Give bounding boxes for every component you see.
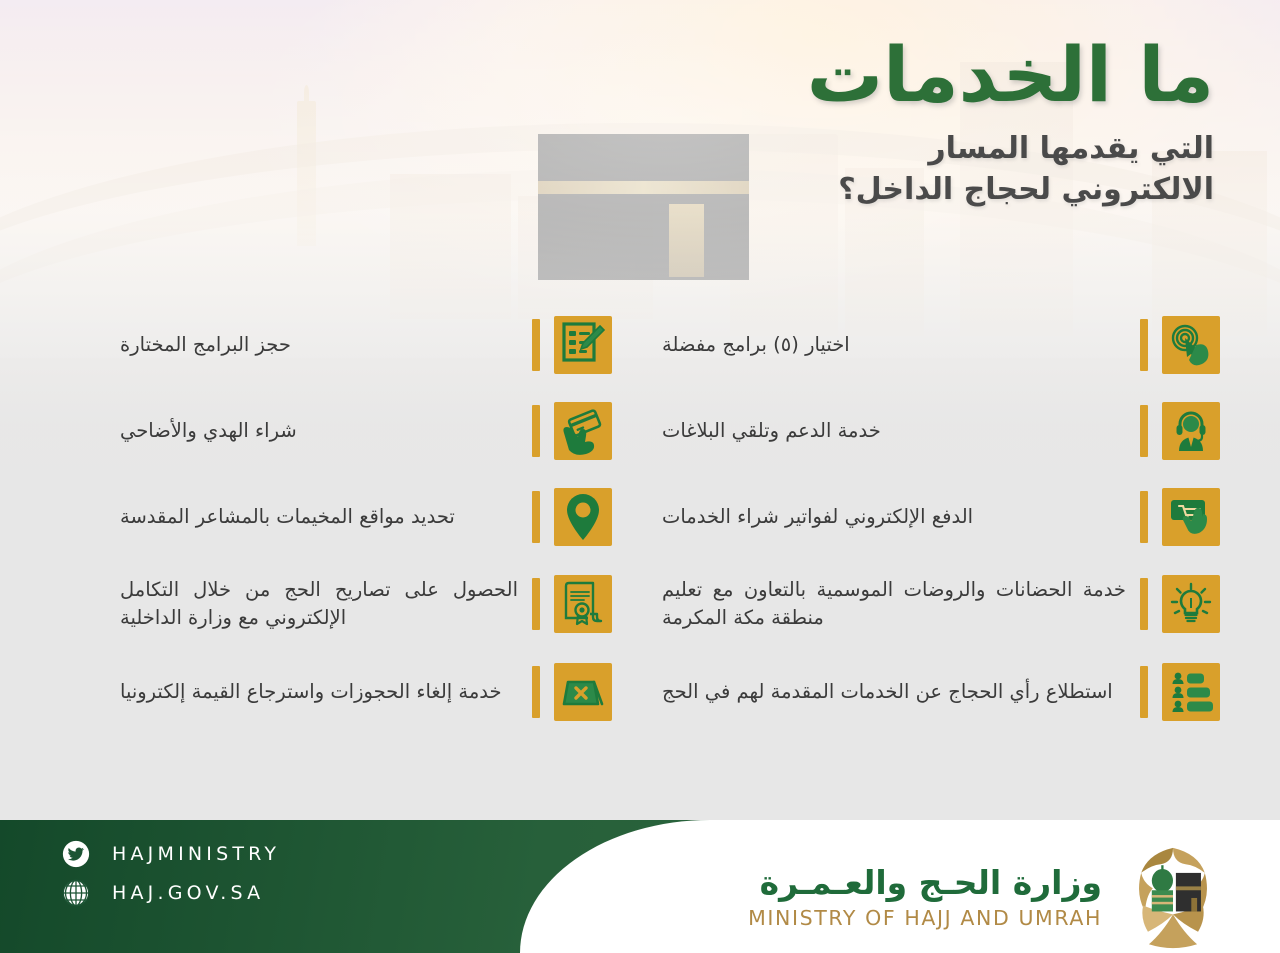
- document-pencil-icon: [554, 316, 612, 374]
- cart-payment-icon: [1162, 488, 1220, 546]
- accent-bar: [1140, 319, 1148, 371]
- service-item[interactable]: حجز البرامج المختارة: [120, 302, 612, 388]
- service-item[interactable]: الحصول على تصاريح الحج من خلال التكامل ا…: [120, 560, 612, 648]
- social-link-twitter[interactable]: HAJMINISTRY: [62, 840, 280, 868]
- website-url: HAJ.GOV.SA: [112, 882, 264, 904]
- service-label: استطلاع رأي الحجاج عن الخدمات المقدمة له…: [662, 678, 1126, 706]
- accent-bar: [532, 405, 540, 457]
- tap-hand-icon: [1162, 316, 1220, 374]
- accent-bar: [1140, 578, 1148, 630]
- globe-icon: [62, 879, 90, 907]
- service-item[interactable]: خدمة الحضانات والروضات الموسمية بالتعاون…: [662, 560, 1220, 648]
- service-item[interactable]: شراء الهدي والأضاحي: [120, 388, 612, 474]
- services-grid: اختيار (٥) برامج مفضلة خدمة الدعم وتل: [0, 302, 1280, 772]
- service-label: الدفع الإلكتروني لفواتير شراء الخدمات: [662, 503, 1126, 531]
- ministry-logo: وزارة الحـج والعـمـرة MINISTRY OF HAJJ A…: [748, 844, 1226, 950]
- accent-bar: [1140, 405, 1148, 457]
- service-item[interactable]: الدفع الإلكتروني لفواتير شراء الخدمات: [662, 474, 1220, 560]
- hand-card-icon: [554, 402, 612, 460]
- certificate-icon: [554, 575, 612, 633]
- service-label: حجز البرامج المختارة: [120, 331, 518, 359]
- accent-bar: [532, 319, 540, 371]
- service-label: الحصول على تصاريح الحج من خلال التكامل ا…: [120, 576, 518, 631]
- page-title-block: ما الخدمات التي يقدمها المسار الالكتروني…: [654, 36, 1214, 210]
- hajj-umrah-emblem-icon: [1120, 844, 1226, 950]
- service-item[interactable]: خدمة الدعم وتلقي البلاغات: [662, 388, 1220, 474]
- service-label: تحديد مواقع المخيمات بالمشاعر المقدسة: [120, 503, 518, 531]
- page-subtitle-line-1: التي يقدمها المسار: [654, 128, 1214, 169]
- accent-bar: [1140, 666, 1148, 718]
- service-label: خدمة إلغاء الحجوزات واسترجاع القيمة إلكت…: [120, 678, 518, 706]
- headset-agent-icon: [1162, 402, 1220, 460]
- social-links: HAJMINISTRY HAJ.GOV.SA: [62, 840, 280, 907]
- page-subtitle-line-2: الالكتروني لحجاج الداخل؟: [654, 169, 1214, 210]
- services-column-left: حجز البرامج المختارة شراء الهدي والأضاحي: [0, 302, 640, 772]
- accent-bar: [1140, 491, 1148, 543]
- ministry-name-english: MINISTRY OF HAJJ AND UMRAH: [748, 906, 1102, 930]
- social-link-website[interactable]: HAJ.GOV.SA: [62, 879, 280, 907]
- map-pin-icon: [554, 488, 612, 546]
- page-title: ما الخدمات: [654, 36, 1214, 114]
- services-column-right: اختيار (٥) برامج مفضلة خدمة الدعم وتل: [640, 302, 1280, 772]
- ministry-name-arabic: وزارة الحـج والعـمـرة: [748, 864, 1102, 903]
- accent-bar: [532, 578, 540, 630]
- service-label: خدمة الدعم وتلقي البلاغات: [662, 417, 1126, 445]
- service-item[interactable]: خدمة إلغاء الحجوزات واسترجاع القيمة إلكت…: [120, 648, 612, 736]
- infographic-poster: ما الخدمات التي يقدمها المسار الالكتروني…: [0, 0, 1280, 953]
- service-item[interactable]: استطلاع رأي الحجاج عن الخدمات المقدمة له…: [662, 648, 1220, 736]
- service-item[interactable]: تحديد مواقع المخيمات بالمشاعر المقدسة: [120, 474, 612, 560]
- ministry-logo-text: وزارة الحـج والعـمـرة MINISTRY OF HAJJ A…: [748, 864, 1102, 930]
- service-item[interactable]: اختيار (٥) برامج مفضلة: [662, 302, 1220, 388]
- cancel-ticket-icon: [554, 663, 612, 721]
- accent-bar: [532, 491, 540, 543]
- survey-chart-icon: [1162, 663, 1220, 721]
- twitter-handle: HAJMINISTRY: [112, 843, 280, 865]
- footer: HAJMINISTRY HAJ.GOV.SA: [0, 820, 1280, 953]
- service-label: اختيار (٥) برامج مفضلة: [662, 331, 1126, 359]
- service-label: شراء الهدي والأضاحي: [120, 417, 518, 445]
- page-subtitle: التي يقدمها المسار الالكتروني لحجاج الدا…: [654, 128, 1214, 211]
- twitter-icon: [62, 840, 90, 868]
- service-label: خدمة الحضانات والروضات الموسمية بالتعاون…: [662, 576, 1126, 631]
- lightbulb-icon: [1162, 575, 1220, 633]
- accent-bar: [532, 666, 540, 718]
